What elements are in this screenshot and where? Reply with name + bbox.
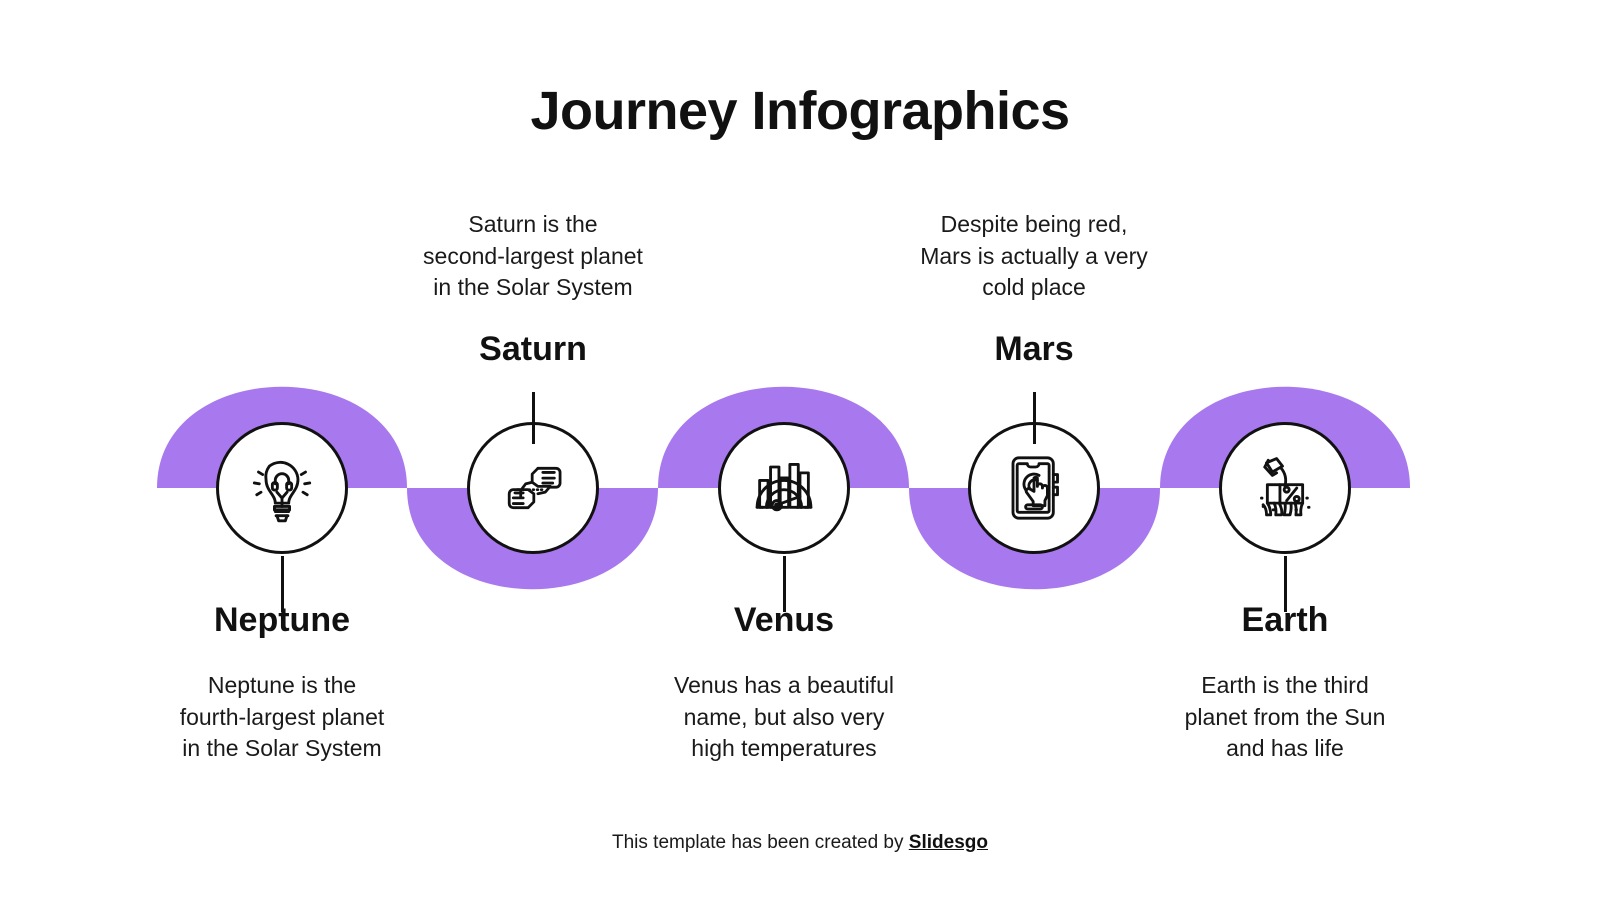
desc-line: and has life <box>1105 733 1465 765</box>
node-description-earth: Earth is the third planet from the Sun a… <box>1105 670 1465 765</box>
node-description-saturn: Saturn is the second-largest planet in t… <box>353 209 713 304</box>
node-title-saturn: Saturn <box>353 330 713 369</box>
lightbulb-headset-icon <box>240 446 324 530</box>
connector-stem-mars <box>1033 392 1036 444</box>
desc-line: high temperatures <box>604 733 964 765</box>
desc-line: name, but also very <box>604 702 964 734</box>
desc-line: Mars is actually a very <box>854 241 1214 273</box>
desc-line: in the Solar System <box>353 272 713 304</box>
node-description-neptune: Neptune is the fourth-largest planet in … <box>102 670 462 765</box>
node-circle-neptune[interactable] <box>216 422 348 554</box>
desc-line: Venus has a beautiful <box>604 670 964 702</box>
smartphone-tap-icon <box>992 446 1076 530</box>
node-description-mars: Despite being red, Mars is actually a ve… <box>854 209 1214 304</box>
desc-line: Neptune is the <box>102 670 462 702</box>
desc-line: in the Solar System <box>102 733 462 765</box>
node-title-mars: Mars <box>854 330 1214 369</box>
desc-line: fourth-largest planet <box>102 702 462 734</box>
discount-pour-bag-icon <box>1243 446 1327 530</box>
desc-line: Saturn is the <box>353 209 713 241</box>
page-title: Journey Infographics <box>0 82 1600 141</box>
footer-credit: This template has been created by Slides… <box>0 832 1600 854</box>
node-title-neptune: Neptune <box>102 601 462 640</box>
node-circle-earth[interactable] <box>1219 422 1351 554</box>
desc-line: cold place <box>854 272 1214 304</box>
node-circle-venus[interactable] <box>718 422 850 554</box>
slidesgo-link[interactable]: Slidesgo <box>909 832 988 853</box>
desc-line: Despite being red, <box>854 209 1214 241</box>
gauge-bar-chart-icon <box>742 446 826 530</box>
connector-stem-saturn <box>532 392 535 444</box>
node-description-venus: Venus has a beautiful name, but also ver… <box>604 670 964 765</box>
desc-line: Earth is the third <box>1105 670 1465 702</box>
footer-text: This template has been created by <box>612 832 909 853</box>
desc-line: planet from the Sun <box>1105 702 1465 734</box>
infographic-slide: Journey Infographics <box>0 0 1600 900</box>
desc-line: second-largest planet <box>353 241 713 273</box>
node-title-earth: Earth <box>1105 601 1465 640</box>
fist-bump-hands-icon <box>492 447 574 529</box>
node-title-venus: Venus <box>604 601 964 640</box>
